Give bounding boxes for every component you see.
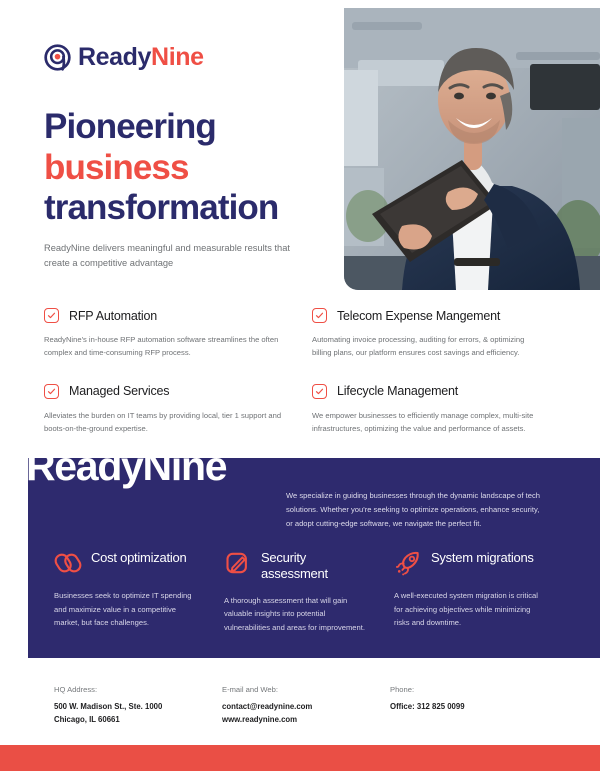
- feature-title: Managed Services: [69, 384, 169, 398]
- service-card-system-migrations: System migrations A well-executed system…: [394, 549, 554, 634]
- band-intro-paragraph: We specialize in guiding businesses thro…: [286, 489, 544, 531]
- feature-item-managed-services: Managed Services Alleviates the burden o…: [44, 384, 312, 436]
- feature-item-lifecycle-management: Lifecycle Management We empower business…: [312, 384, 556, 436]
- service-card-title: Security assessment: [261, 549, 372, 582]
- feature-description: Alleviates the burden on IT teams by pro…: [44, 409, 296, 436]
- feature-title: Lifecycle Management: [337, 384, 458, 398]
- service-card-grid: Cost optimization Businesses seek to opt…: [54, 549, 554, 634]
- footer-email-block: E-mail and Web: contact@readynine.com ww…: [222, 685, 390, 727]
- brand-logo[interactable]: ReadyNine: [44, 44, 204, 71]
- footer-website-url[interactable]: www.readynine.com: [222, 714, 390, 727]
- contact-footer: HQ Address: 500 W. Madison St., Ste. 100…: [54, 685, 554, 727]
- feature-title: RFP Automation: [69, 309, 157, 323]
- readynine-circle-target-logo: [44, 44, 71, 71]
- service-card-description: A thorough assessment that will gain val…: [224, 594, 372, 635]
- pencil-edit-square-icon: [224, 549, 252, 577]
- service-card-header: Security assessment: [224, 549, 372, 582]
- feature-description: ReadyNine's in-house RFP automation soft…: [44, 333, 296, 360]
- footer-address-line-1: 500 W. Madison St., Ste. 1000: [54, 701, 222, 714]
- linked-loops-icon: [54, 549, 82, 577]
- bottom-accent-bar: [0, 745, 600, 771]
- hero-photo: [344, 8, 600, 290]
- feature-header: Telecom Expense Mangement: [312, 308, 540, 323]
- feature-description: Automating invoice processing, auditing …: [312, 333, 540, 360]
- footer-email-label: E-mail and Web:: [222, 685, 390, 694]
- service-card-cost-optimization: Cost optimization Businesses seek to opt…: [54, 549, 214, 634]
- page-title: Pioneering business transformation: [44, 107, 334, 229]
- service-card-description: A well-executed system migration is crit…: [394, 589, 542, 630]
- footer-phone-label: Phone:: [390, 685, 554, 694]
- rocket-icon: [394, 549, 422, 577]
- headline-line-3: transformation: [44, 188, 334, 229]
- brand-wordmark: ReadyNine: [78, 45, 204, 70]
- feature-description: We empower businesses to efficiently man…: [312, 409, 540, 436]
- feature-item-telecom-expense-mangement: Telecom Expense Mangement Automating inv…: [312, 308, 556, 360]
- feature-header: Lifecycle Management: [312, 384, 540, 399]
- hero-subheadline: ReadyNine delivers meaningful and measur…: [44, 241, 306, 272]
- checkbox-check-icon: [312, 384, 327, 399]
- service-card-header: System migrations: [394, 549, 542, 577]
- footer-address-line-2: Chicago, IL 60661: [54, 714, 222, 727]
- brand-wordmark-ready: Ready: [78, 43, 151, 71]
- service-card-title: Cost optimization: [91, 549, 186, 566]
- brand-wordmark-nine: Nine: [151, 43, 204, 71]
- feature-grid: RFP Automation ReadyNine's in-house RFP …: [44, 308, 556, 435]
- service-card-description: Businesses seek to optimize IT spending …: [54, 589, 202, 630]
- service-card-security-assessment: Security assessment A thorough assessmen…: [224, 549, 384, 634]
- headline-line-2: business: [44, 148, 334, 189]
- checkbox-check-icon: [44, 384, 59, 399]
- businessman-with-tablet-photo: [344, 8, 600, 290]
- feature-header: Managed Services: [44, 384, 296, 399]
- flyer-page: ReadyNine Pioneering business transforma…: [0, 0, 600, 771]
- service-card-header: Cost optimization: [54, 549, 202, 577]
- checkbox-check-icon: [312, 308, 327, 323]
- headline-line-1: Pioneering: [44, 107, 334, 148]
- feature-item-rfp-automation: RFP Automation ReadyNine's in-house RFP …: [44, 308, 312, 360]
- feature-header: RFP Automation: [44, 308, 296, 323]
- band-wordmark: ReadyNine: [26, 446, 226, 487]
- service-card-title: System migrations: [431, 549, 534, 566]
- footer-address-label: HQ Address:: [54, 685, 222, 694]
- footer-email-address[interactable]: contact@readynine.com: [222, 701, 390, 714]
- footer-address-block: HQ Address: 500 W. Madison St., Ste. 100…: [54, 685, 222, 727]
- checkbox-check-icon: [44, 308, 59, 323]
- footer-phone-block: Phone: Office: 312 825 0099: [390, 685, 554, 727]
- footer-phone-number[interactable]: Office: 312 825 0099: [390, 701, 554, 714]
- feature-title: Telecom Expense Mangement: [337, 309, 500, 323]
